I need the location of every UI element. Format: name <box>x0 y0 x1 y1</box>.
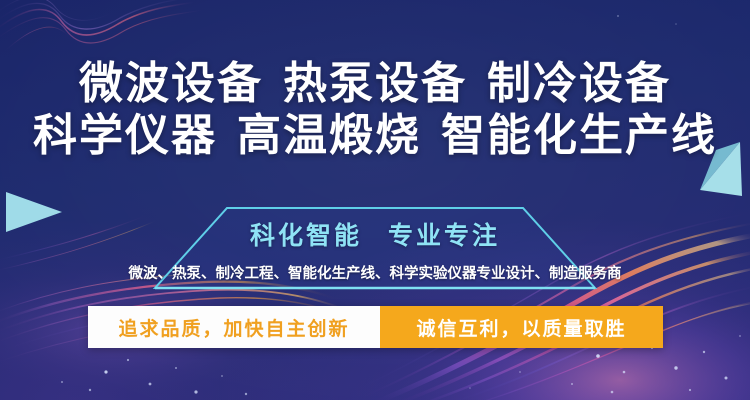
cta-button-integrity[interactable]: 诚信互利，以质量取胜 <box>380 306 663 348</box>
headline-word-instruments: 科学仪器 <box>33 111 217 160</box>
subline-text: 微波、热泵、制冷工程、智能化生产线、科学实验仪器专业设计、制造服务商 <box>0 264 750 284</box>
promo-banner: 微波设备热泵设备制冷设备 科学仪器高温煅烧智能化生产线 科化智能专业专注 微波、… <box>0 0 750 400</box>
headline-word-heatpump: 热泵设备 <box>283 59 467 108</box>
slogan-right: 专业专注 <box>388 222 500 250</box>
headline-word-refrigeration: 制冷设备 <box>487 59 671 108</box>
headline-block: 微波设备热泵设备制冷设备 科学仪器高温煅烧智能化生产线 <box>0 58 750 162</box>
headline-line-2: 科学仪器高温煅烧智能化生产线 <box>0 110 750 162</box>
cta-button-quality[interactable]: 追求品质，加快自主创新 <box>88 306 380 348</box>
slogan-row: 科化智能专业专注 <box>0 220 750 252</box>
cta-button-row: 追求品质，加快自主创新 诚信互利，以质量取胜 <box>88 306 663 348</box>
headline-word-calcination: 高温煅烧 <box>237 111 421 160</box>
headline-word-smartline: 智能化生产线 <box>441 111 717 160</box>
headline-word-microwave: 微波设备 <box>79 59 263 108</box>
headline-line-1: 微波设备热泵设备制冷设备 <box>0 58 750 110</box>
slogan-left: 科化智能 <box>250 222 362 250</box>
